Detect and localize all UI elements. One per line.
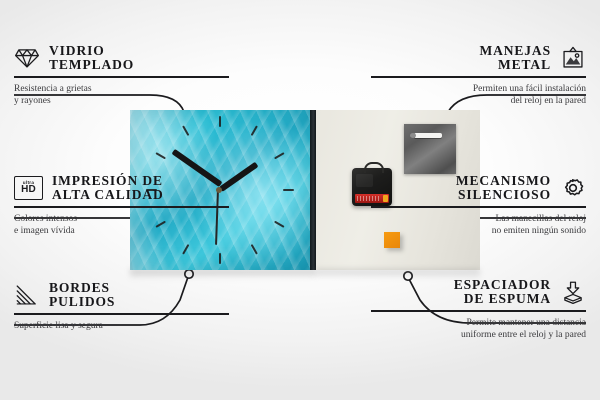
feature-title-line2: METAL [498,58,551,72]
feature-divider [371,310,586,312]
foam-spacer-icon [560,280,586,304]
gear-icon [560,176,586,200]
feature-divider [14,76,229,78]
infographic-canvas: VIDRIO TEMPLADO Resistencia a grietas y … [0,0,600,400]
front-panel-shadow [130,269,316,279]
feature-subtitle-line1: Resistencia a grietas [14,83,229,96]
hanger-hole [410,133,416,138]
feature-title-line2: SILENCIOSO [458,188,551,202]
metal-hanger-plate [404,124,456,174]
feature-title-line1: MANEJAS [479,44,551,58]
feature-title-line2: ALTA CALIDAD [52,188,164,202]
hanger-slot [414,133,442,138]
feature-subtitle-line2: uniforme entre el reloj y la pared [371,329,586,342]
feature-impresion-alta-calidad: ultra HD IMPRESIÓN DE ALTA CALIDAD Color… [14,174,229,238]
feature-title-line1: MECANISMO [456,174,551,188]
feature-title-line1: BORDES [49,281,110,295]
feature-title-line2: DE ESPUMA [464,292,551,306]
feature-subtitle-line1: Las manecillas del reloj [371,213,586,226]
feature-subtitle-line2: y rayones [14,95,229,108]
feature-subtitle-line1: Superficie lisa y segura [14,320,229,333]
feature-divider [14,206,229,208]
movement-hanging-loop [364,162,384,173]
feature-espaciador-espuma: ESPACIADOR DE ESPUMA Permite mantener un… [371,278,586,342]
ultra-hd-icon: ultra HD [14,176,43,200]
polished-edge-icon [14,283,40,307]
feature-subtitle-line1: Colores intensos [14,213,229,226]
feature-mecanismo-silencioso: MECANISMO SILENCIOSO Las manecillas del … [371,174,586,238]
picture-hanger-icon [560,46,586,70]
feature-subtitle-line1: Permite mantener una distancia [371,317,586,330]
feature-divider [371,206,586,208]
ultra-hd-large-text: HD [21,185,36,195]
feature-bordes-pulidos: BORDES PULIDOS Superficie lisa y segura [14,281,229,332]
feature-subtitle-line2: e imagen vívida [14,225,229,238]
feature-divider [14,313,229,315]
feature-title-line2: TEMPLADO [49,58,134,72]
feature-subtitle-line1: Permiten una fácil instalación [371,83,586,96]
feature-subtitle-line2: no emiten ningún sonido [371,225,586,238]
feature-vidrio-templado: VIDRIO TEMPLADO Resistencia a grietas y … [14,44,229,108]
feature-subtitle-line2: del reloj en la pared [371,95,586,108]
diamond-icon [14,46,40,70]
feature-title-line1: VIDRIO [49,44,105,58]
feature-title-line1: ESPACIADOR [454,278,551,292]
feature-manejas-metal: MANEJAS METAL Permiten una fácil instala… [371,44,586,108]
feature-title-line2: PULIDOS [49,295,115,309]
feature-divider [371,76,586,78]
feature-title-line1: IMPRESIÓN DE [52,174,163,188]
